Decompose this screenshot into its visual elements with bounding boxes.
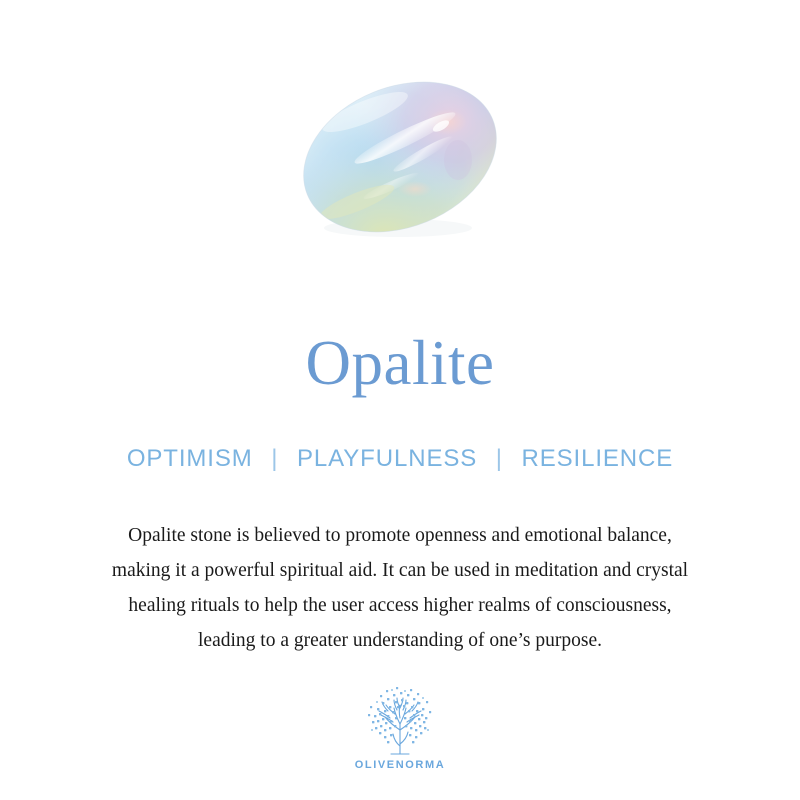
keyword-subtitle: OPTIMISM | PLAYFULNESS | RESILIENCE [0, 445, 800, 474]
opalite-cabochon-stone-icon [295, 68, 505, 246]
opalite-info-card: Opalite OPTIMISM | PLAYFULNESS | RESILIE… [0, 0, 800, 800]
description-text: Opalite stone is believed to promote ope… [0, 518, 800, 658]
keyword-separator: | [485, 445, 514, 472]
keyword-playfulness: PLAYFULNESS [297, 445, 477, 472]
brand-name: OLIVENORMA [355, 759, 446, 771]
page-title: Opalite [0, 330, 800, 396]
description-line: making it a powerful spiritual aid. It c… [0, 553, 800, 588]
keyword-resilience: RESILIENCE [521, 445, 673, 472]
olivenorma-tree-icon [360, 684, 440, 756]
description-line: healing rituals to help the user access … [0, 588, 800, 623]
description-line: Opalite stone is believed to promote ope… [0, 518, 800, 553]
description-line: leading to a greater understanding of on… [0, 623, 800, 658]
product-image-container [0, 62, 800, 252]
keyword-optimism: OPTIMISM [127, 445, 253, 472]
keyword-separator: | [260, 445, 289, 472]
brand-logo: OLIVENORMA [0, 684, 800, 771]
